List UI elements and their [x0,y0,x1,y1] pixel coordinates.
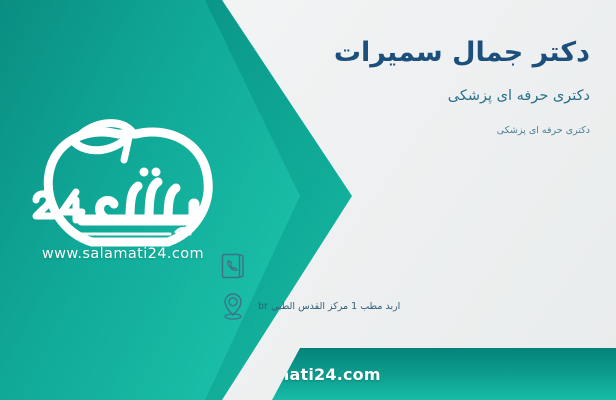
doctor-info: دکتر جمال سمیرات دکتری حرفه ای پزشکی دکت… [218,36,590,137]
doctor-profile-card: www.salamati24.com دکتر جمال سمیرات دکتر… [0,0,616,400]
doctor-specialty: دکتری حرفه ای پزشکی [218,86,590,106]
doctor-name: دکتر جمال سمیرات [218,36,590,70]
doctor-specialty-secondary: دکتری حرفه ای پزشکی [218,124,590,137]
contact-row-address[interactable]: اربد مطب 1 مركز القدس الطبي br [218,290,590,322]
brand-logo: www.salamati24.com [18,108,228,276]
brand-logo-url: www.salamati24.com [18,246,228,262]
contact-address-label: اربد مطب 1 مركز القدس الطبي br [258,301,400,312]
location-pin-icon [218,290,248,322]
contact-list: اربد مطب 1 مركز القدس الطبي br [218,250,590,330]
phone-book-icon [218,250,248,282]
contact-row-phone[interactable] [218,250,590,282]
